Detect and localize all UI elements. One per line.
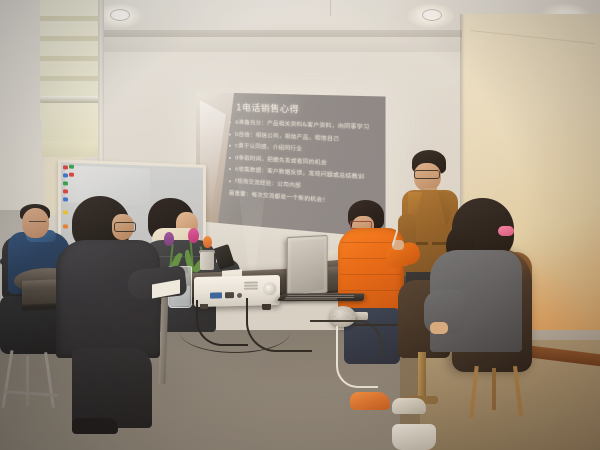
magnet-icon[interactable]	[69, 165, 74, 169]
blind-lower-panel-2	[42, 141, 100, 157]
shoe	[72, 418, 118, 434]
magnet-icon[interactable]	[63, 197, 68, 201]
white-bin	[392, 424, 436, 450]
pink-hair-tie	[498, 226, 514, 236]
chair-leg	[26, 356, 29, 406]
magnet-icon[interactable]	[63, 165, 68, 169]
orange-shoe	[350, 392, 390, 410]
laptop-trackpad[interactable]	[308, 293, 326, 295]
tulip-flower-orange	[203, 236, 212, 248]
left-wall	[0, 0, 44, 230]
puffer-seam	[341, 290, 401, 291]
laptop-screen[interactable]	[287, 235, 328, 300]
cable	[180, 312, 290, 353]
ceiling-soffit	[84, 30, 474, 37]
magnet-icon[interactable]	[63, 224, 68, 228]
ceiling-seam	[330, 0, 331, 16]
puffer-seam	[341, 274, 401, 275]
tulip-flower-purple	[164, 232, 174, 246]
projector-power-port[interactable]	[237, 293, 242, 298]
meeting-room-photo: 1电话销售心得 a准备充分：产品相关资料&客户资料，向同事学习 b自信：相信公司…	[0, 0, 600, 450]
laptop-display	[291, 239, 324, 295]
downlight-ring-icon	[422, 9, 442, 21]
glasses-icon	[114, 222, 136, 232]
chair-mid-post	[418, 352, 426, 398]
blind-slat	[40, 16, 100, 21]
magnet-icon[interactable]	[63, 173, 68, 177]
projector-vent	[244, 287, 258, 289]
magnet-icon[interactable]	[63, 189, 68, 193]
cup[interactable]	[200, 252, 214, 270]
magnet-icon[interactable]	[69, 173, 74, 177]
chair-leg	[492, 368, 496, 410]
tulip-flower-pink	[188, 228, 199, 243]
white-cable	[336, 326, 378, 388]
person-dark-coat-legs	[72, 348, 152, 428]
blind-slat	[40, 76, 100, 81]
projector-lens-icon	[263, 282, 277, 296]
magnet-icon[interactable]	[63, 210, 68, 214]
glasses-icon	[414, 170, 440, 179]
blind-slat	[40, 36, 100, 41]
projector-vga-port[interactable]	[210, 292, 222, 298]
downlight-ring-icon	[110, 9, 130, 21]
blind-bottom-rail[interactable]	[40, 96, 102, 103]
keyboard-row	[287, 295, 355, 296]
blind-slat	[40, 56, 100, 61]
blind-lower-panel	[42, 103, 100, 141]
glasses-icon	[29, 221, 46, 226]
person-grey-sweater-hand	[430, 322, 448, 334]
jacket-lapel-right	[438, 192, 452, 226]
magnet-icon[interactable]	[63, 181, 68, 185]
cable	[352, 314, 404, 326]
projector-vent	[244, 284, 258, 286]
projector-vent	[244, 281, 258, 283]
projector-hdmi-port[interactable]	[225, 292, 234, 298]
white-shoe	[392, 398, 426, 414]
